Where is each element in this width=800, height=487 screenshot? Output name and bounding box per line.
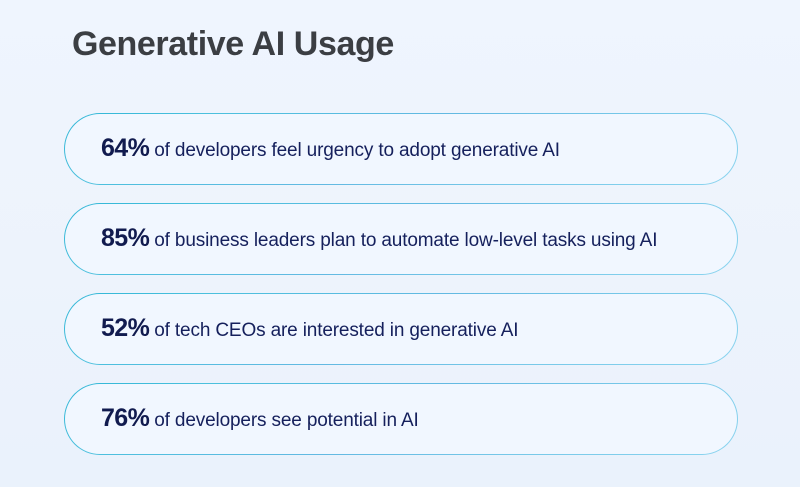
stat-percent: 85%: [101, 224, 149, 252]
stat-card-text: 76%of developers see potential in AI: [65, 406, 445, 433]
stat-card: 85%of business leaders plan to automate …: [64, 203, 738, 275]
stat-card: 52%of tech CEOs are interested in genera…: [64, 293, 738, 365]
stat-card-text: 85%of business leaders plan to automate …: [65, 226, 683, 253]
stat-card-text: 52%of tech CEOs are interested in genera…: [65, 316, 544, 343]
stat-card-text: 64%of developers feel urgency to adopt g…: [65, 136, 586, 163]
infographic-root: Generative AI Usage 64%of developers fee…: [0, 0, 800, 487]
stat-description: of tech CEOs are interested in generativ…: [154, 320, 518, 341]
stat-percent: 52%: [101, 314, 149, 342]
stat-percent: 64%: [101, 134, 149, 162]
stat-description: of developers see potential in AI: [154, 410, 418, 431]
stat-card: 64%of developers feel urgency to adopt g…: [64, 113, 738, 185]
stat-card: 76%of developers see potential in AI: [64, 383, 738, 455]
stat-description: of developers feel urgency to adopt gene…: [154, 140, 560, 161]
page-title: Generative AI Usage: [72, 22, 394, 66]
stat-description: of business leaders plan to automate low…: [154, 230, 657, 251]
stat-card-list: 64%of developers feel urgency to adopt g…: [64, 113, 738, 455]
stat-percent: 76%: [101, 404, 149, 432]
